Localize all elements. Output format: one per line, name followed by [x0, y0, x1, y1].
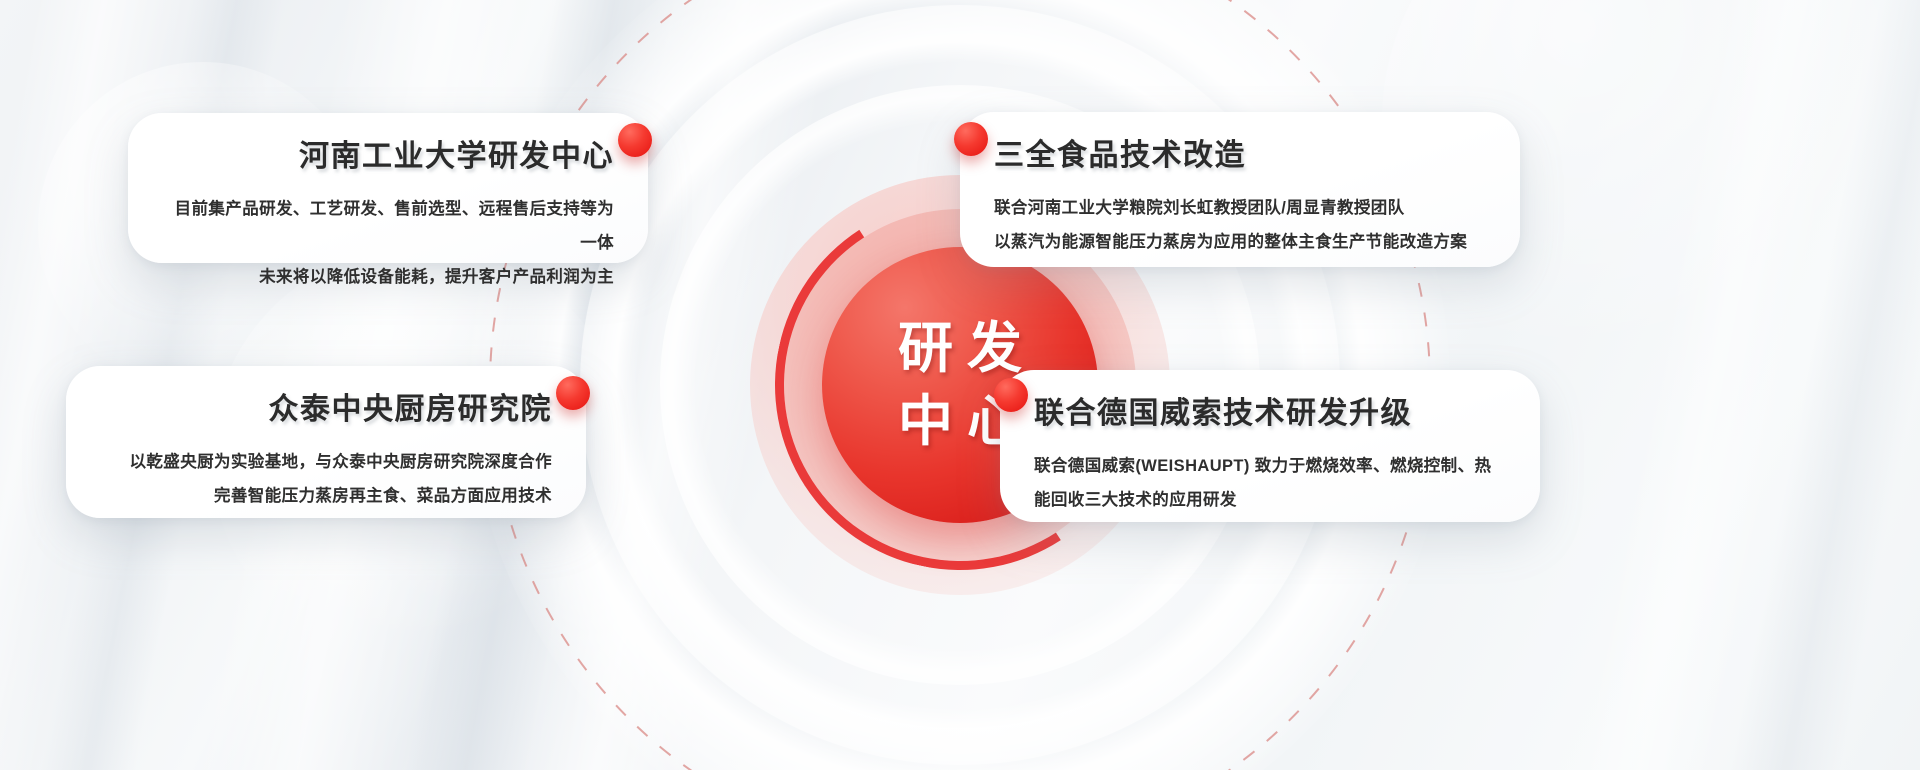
- card-marker-dot-icon: [556, 376, 590, 410]
- background-streak: [1703, 0, 1920, 770]
- card-marker-dot-icon: [618, 123, 652, 157]
- card-henan-university-rd-center[interactable]: 河南工业大学研发中心 目前集产品研发、工艺研发、售前选型、远程售后支持等为一体 …: [128, 113, 648, 263]
- card-body-line: 联合河南工业大学粮院刘长虹教授团队/周显青教授团队: [994, 192, 1486, 226]
- card-body-line: 联合德国威索(WEISHAUPT) 致力于燃烧效率、燃烧控制、热: [1034, 450, 1506, 484]
- card-body-line: 未来将以降低设备能耗，提升客户产品利润为主: [162, 261, 614, 295]
- hub-title-line-1: 研发: [884, 312, 1036, 385]
- card-weishaupt-joint-rd-upgrade[interactable]: 联合德国威索技术研发升级 联合德国威索(WEISHAUPT) 致力于燃烧效率、燃…: [1000, 370, 1540, 522]
- card-zhongtai-central-kitchen-institute[interactable]: 众泰中央厨房研究院 以乾盛央厨为实验基地，与众泰中央厨房研究院深度合作 完善智能…: [66, 366, 586, 518]
- card-marker-dot-icon: [994, 378, 1028, 412]
- card-sanquan-food-tech-upgrade[interactable]: 三全食品技术改造 联合河南工业大学粮院刘长虹教授团队/周显青教授团队 以蒸汽为能…: [960, 112, 1520, 267]
- card-body-line: 以乾盛央厨为实验基地，与众泰中央厨房研究院深度合作: [100, 446, 552, 480]
- card-body-line: 以蒸汽为能源智能压力蒸房为应用的整体主食生产节能改造方案: [994, 226, 1486, 260]
- card-title: 联合德国威索技术研发升级: [1034, 396, 1506, 432]
- card-marker-dot-icon: [954, 122, 988, 156]
- card-body-line: 目前集产品研发、工艺研发、售前选型、远程售后支持等为一体: [162, 193, 614, 261]
- card-title: 河南工业大学研发中心: [162, 139, 614, 175]
- research-center-infographic: 研发 中心 河南工业大学研发中心 目前集产品研发、工艺研发、售前选型、远程售后支…: [0, 0, 1920, 770]
- background-streak: [1549, 0, 1893, 770]
- card-body-line: 完善智能压力蒸房再主食、菜品方面应用技术: [100, 480, 552, 514]
- card-title: 众泰中央厨房研究院: [100, 392, 552, 428]
- card-title: 三全食品技术改造: [994, 138, 1486, 174]
- card-body-line: 能回收三大技术的应用研发: [1034, 484, 1506, 518]
